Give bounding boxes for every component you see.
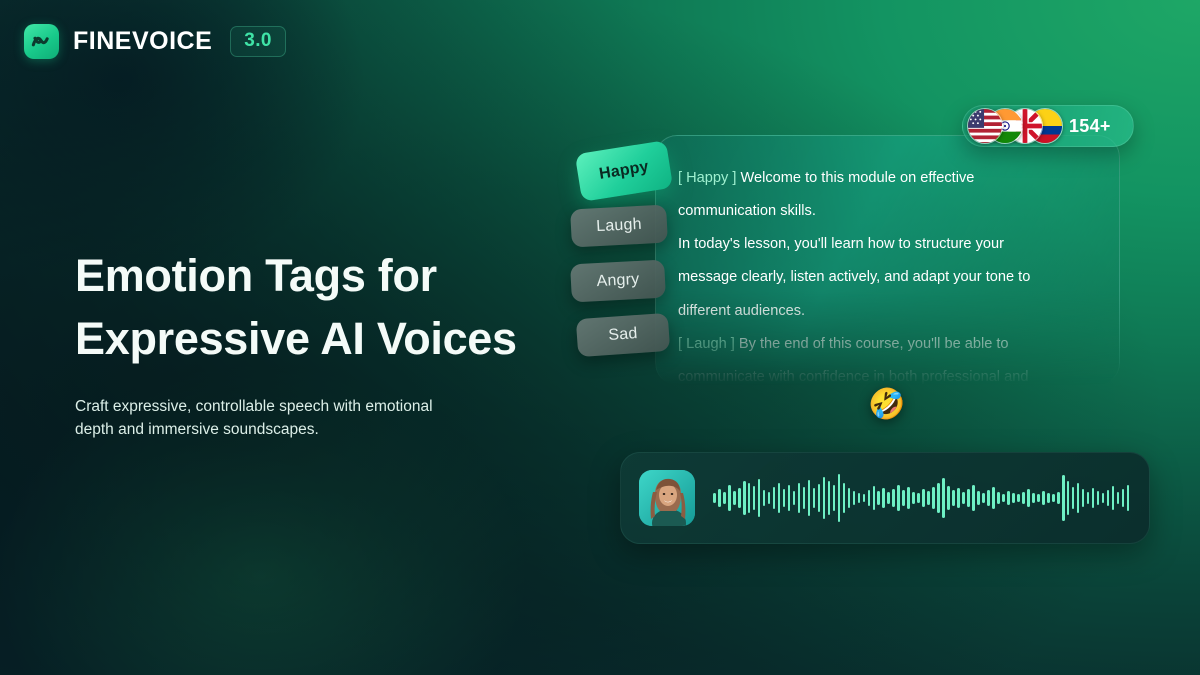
waveform-bar bbox=[793, 491, 796, 505]
version-badge: 3.0 bbox=[230, 26, 286, 57]
brand-header: FINEVOICE 3.0 bbox=[24, 24, 286, 59]
transcript-text: By the end of this course, you'll be abl… bbox=[739, 336, 1009, 352]
waveform-bar bbox=[892, 489, 895, 507]
waveform-bar bbox=[1117, 492, 1120, 504]
united-states-flag-icon bbox=[967, 108, 1003, 144]
transcript-line: In today's lesson, you'll learn how to s… bbox=[678, 228, 1089, 261]
waveform-bar bbox=[1092, 488, 1095, 508]
waveform-bar bbox=[863, 494, 866, 502]
brand-name: FINEVOICE bbox=[73, 27, 212, 56]
waveform-bar bbox=[823, 477, 826, 519]
emotion-chip-laugh[interactable]: Laugh bbox=[570, 205, 668, 248]
waveform-bar bbox=[877, 491, 880, 505]
waveform-bar bbox=[1042, 491, 1045, 505]
transcript-text: communicate with confidence in both prof… bbox=[678, 369, 1028, 385]
waveform-bar bbox=[1017, 494, 1020, 502]
waveform-bar bbox=[987, 490, 990, 506]
waveform-bar bbox=[763, 490, 766, 506]
waveform-bar bbox=[798, 483, 801, 513]
waveform-bar bbox=[783, 489, 786, 507]
transcript-line: communicate with confidence in both prof… bbox=[678, 361, 1089, 385]
transcript-line: communication skills. bbox=[678, 195, 1089, 228]
waveform-bar bbox=[962, 492, 965, 504]
waveform-bar bbox=[882, 488, 885, 508]
waveform-bar bbox=[1072, 487, 1075, 509]
laughing-emoji: 🤣 bbox=[868, 390, 905, 420]
waveform-bar bbox=[967, 489, 970, 507]
transcript-line: [ Happy ] Welcome to this module on effe… bbox=[678, 162, 1089, 195]
waveform-bar bbox=[1122, 489, 1125, 507]
audio-player-card[interactable] bbox=[620, 452, 1150, 544]
transcript-text: message clearly, listen actively, and ad… bbox=[678, 269, 1030, 285]
waveform-bar bbox=[818, 484, 821, 512]
waveform-bar bbox=[942, 478, 945, 518]
waveform-bar bbox=[922, 489, 925, 507]
waveform-bar bbox=[1047, 493, 1050, 503]
waveform-bar bbox=[833, 485, 836, 511]
flag-stack bbox=[963, 105, 1063, 147]
waveform-bar bbox=[713, 493, 716, 503]
waveform-bar bbox=[813, 488, 816, 508]
waveform-bar bbox=[952, 490, 955, 506]
waveform-bar bbox=[1027, 489, 1030, 507]
waveform-bar bbox=[748, 483, 751, 513]
waveform-bar bbox=[773, 487, 776, 509]
waveform-bar bbox=[868, 490, 871, 506]
transcript-emotion-tag: [ Happy ] bbox=[678, 170, 740, 186]
hero-subtitle: Craft expressive, controllable speech wi… bbox=[75, 396, 475, 442]
waveform-bar bbox=[1057, 492, 1060, 504]
speaker-avatar bbox=[639, 470, 695, 526]
waveform-bar bbox=[982, 493, 985, 503]
waveform-bar bbox=[778, 483, 781, 513]
waveform-bar bbox=[932, 487, 935, 509]
waveform-bar bbox=[848, 488, 851, 508]
waveform-bar bbox=[957, 488, 960, 508]
waveform-bar bbox=[728, 485, 731, 511]
waveform-bar bbox=[1087, 492, 1090, 504]
waveform-bar bbox=[977, 491, 980, 505]
waveform-bar bbox=[743, 481, 746, 515]
waveform-bar bbox=[1062, 475, 1065, 521]
waveform-bar bbox=[917, 493, 920, 503]
waveform-bar bbox=[1077, 483, 1080, 513]
waveform-bar bbox=[1127, 485, 1130, 511]
waveform-bar bbox=[758, 479, 761, 517]
language-count-badge[interactable]: 154+ bbox=[962, 105, 1134, 147]
transcript-line: different audiences. bbox=[678, 295, 1089, 328]
waveform-bar bbox=[907, 487, 910, 509]
waveform-bar bbox=[1012, 493, 1015, 503]
waveform-bar bbox=[1067, 481, 1070, 515]
waveform-bar bbox=[947, 486, 950, 510]
hero-section: Emotion Tags for Expressive AI Voices Cr… bbox=[75, 244, 545, 442]
waveform-bar bbox=[902, 490, 905, 506]
transcript-text: In today's lesson, you'll learn how to s… bbox=[678, 236, 1004, 252]
waveform-bar bbox=[858, 493, 861, 503]
transcript-text: communication skills. bbox=[678, 203, 816, 219]
headline-line-2: Expressive AI Voices bbox=[75, 313, 517, 364]
waveform-bar bbox=[1002, 494, 1005, 502]
transcript-body: [ Happy ] Welcome to this module on effe… bbox=[656, 136, 1119, 385]
waveform-bar bbox=[803, 487, 806, 509]
waveform-bar bbox=[1097, 491, 1100, 505]
headline-line-1: Emotion Tags for bbox=[75, 250, 437, 301]
waveform-bar bbox=[723, 492, 726, 504]
emotion-chip-sad[interactable]: Sad bbox=[576, 313, 670, 357]
waveform-bar bbox=[768, 492, 771, 504]
page-title: Emotion Tags for Expressive AI Voices bbox=[75, 244, 545, 370]
language-count-label: 154+ bbox=[1069, 116, 1111, 137]
waveform-bar bbox=[1107, 490, 1110, 506]
waveform-bar bbox=[873, 486, 876, 510]
waveform-bar bbox=[788, 485, 791, 511]
waveform-bar bbox=[937, 483, 940, 513]
waveform-bar bbox=[1082, 489, 1085, 507]
waveform-bar bbox=[1112, 486, 1115, 510]
waveform-bar bbox=[738, 488, 741, 508]
waveform-bar bbox=[927, 491, 930, 505]
waveform-bar bbox=[1022, 492, 1025, 504]
waveform-bar bbox=[753, 486, 756, 510]
transcript-panel: [ Happy ] Welcome to this module on effe… bbox=[655, 135, 1120, 385]
waveform-bar bbox=[912, 492, 915, 504]
waveform-bar bbox=[718, 489, 721, 507]
waveform-bar bbox=[1032, 493, 1035, 503]
waveform-bar bbox=[887, 492, 890, 504]
waveform-bar bbox=[1007, 491, 1010, 505]
waveform-bar bbox=[997, 492, 1000, 504]
audio-waveform[interactable] bbox=[713, 469, 1131, 527]
waveform-bar bbox=[1102, 493, 1105, 503]
transcript-text: Welcome to this module on effective bbox=[740, 170, 974, 186]
waveform-bar bbox=[1052, 494, 1055, 502]
promo-banner: FINEVOICE 3.0 Emotion Tags for Expressiv… bbox=[0, 0, 1200, 675]
waveform-bar bbox=[733, 491, 736, 505]
transcript-emotion-tag: [ Laugh ] bbox=[678, 336, 739, 352]
transcript-text: different audiences. bbox=[678, 303, 805, 319]
waveform-bar bbox=[838, 474, 841, 522]
waveform-bar bbox=[853, 491, 856, 505]
waveform-bar bbox=[1037, 494, 1040, 502]
waveform-bar bbox=[897, 485, 900, 511]
waveform-bar bbox=[972, 485, 975, 511]
emotion-chip-angry[interactable]: Angry bbox=[570, 260, 666, 303]
wave-logo-icon bbox=[24, 24, 59, 59]
waveform-bar bbox=[808, 480, 811, 516]
waveform-bar bbox=[828, 481, 831, 515]
transcript-line: [ Laugh ] By the end of this course, you… bbox=[678, 328, 1089, 361]
waveform-bar bbox=[843, 483, 846, 513]
transcript-line: message clearly, listen actively, and ad… bbox=[678, 261, 1089, 294]
waveform-bar bbox=[992, 487, 995, 509]
